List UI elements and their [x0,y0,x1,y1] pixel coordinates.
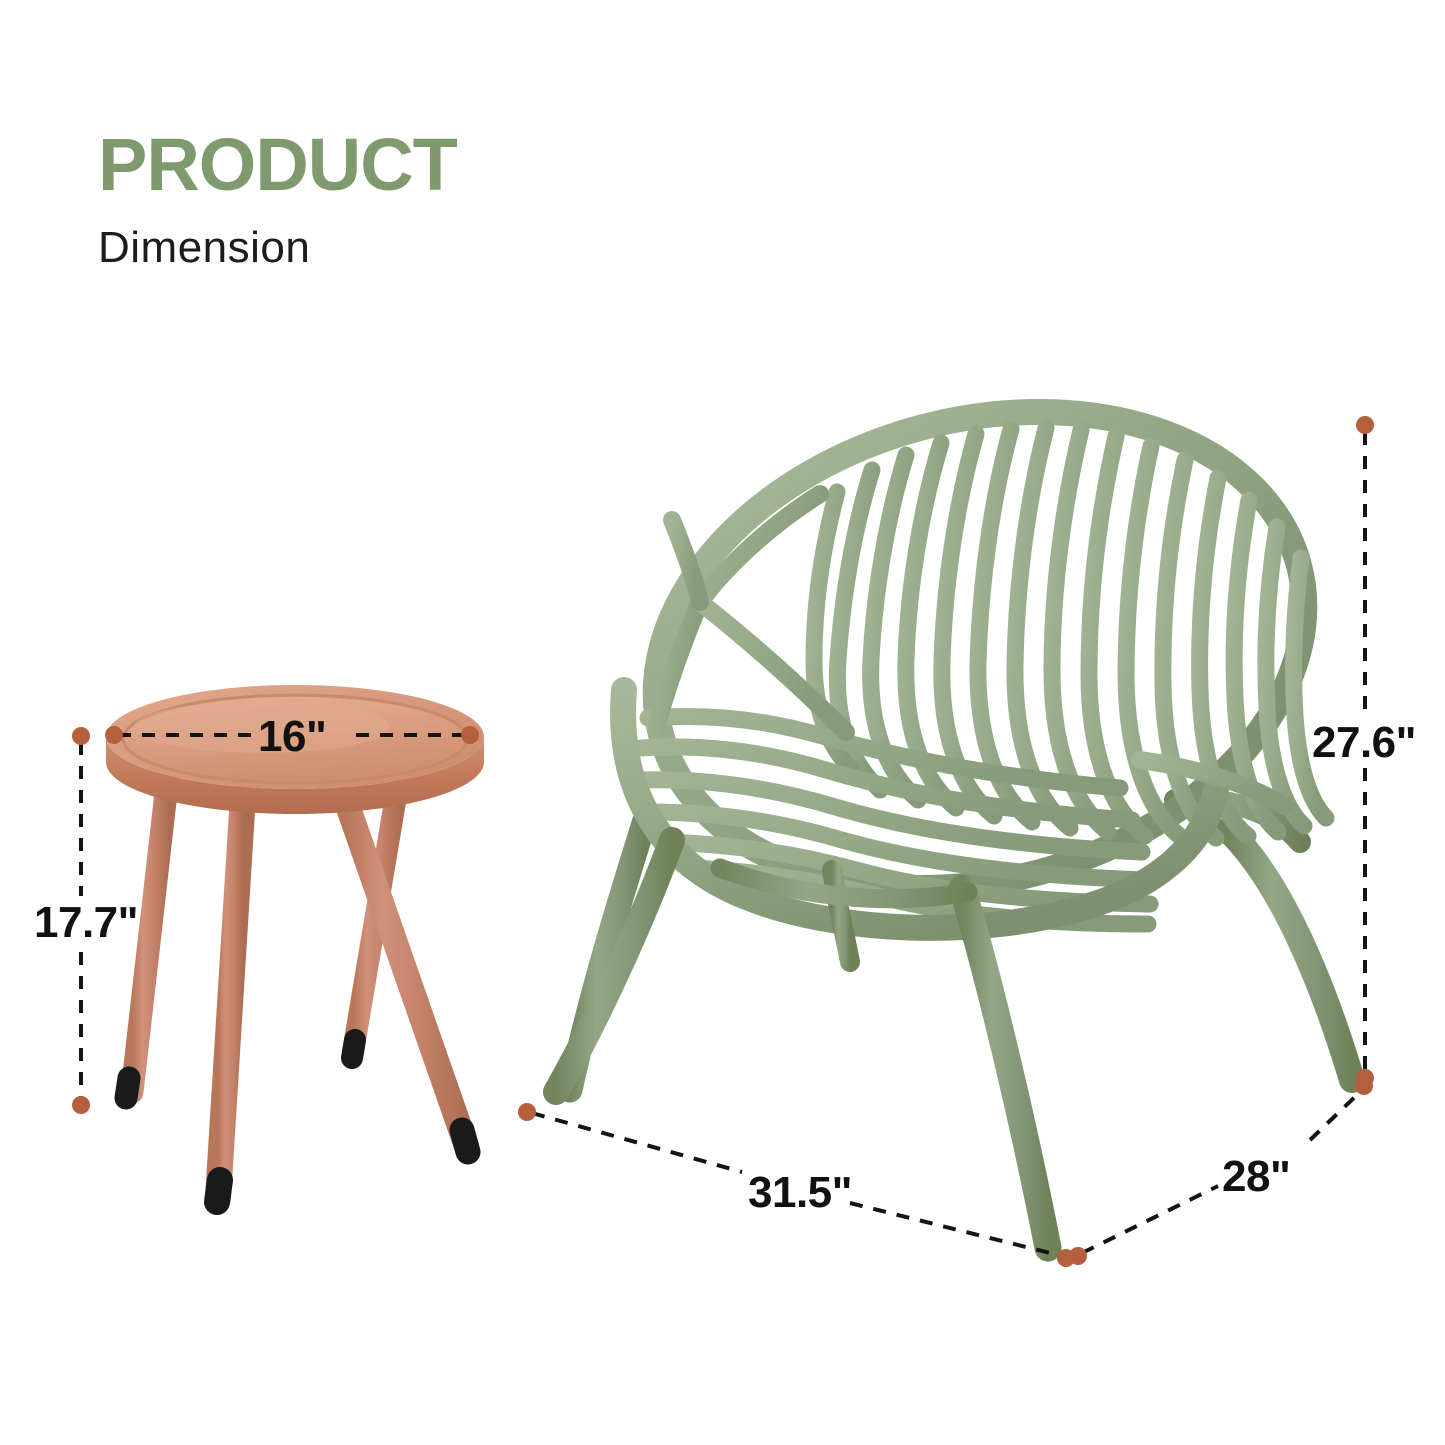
dimension-dot [72,727,90,745]
dimension-dot [518,1103,536,1121]
dimension-label-chair-depth: 28" [1222,1152,1290,1202]
dimension-label-table-width: 16" [258,712,326,762]
dimension-dot [1356,416,1374,434]
dimension-dot [1069,1247,1087,1265]
dimension-annotations [0,0,1445,1445]
dimension-label-chair-height: 27.6" [1312,718,1416,768]
dimension-dot [461,726,479,744]
dimension-label-chair-width: 31.5" [748,1168,852,1218]
dimension-dot [105,726,123,744]
infographic-canvas: PRODUCT Dimension [0,0,1445,1445]
dimension-dot [72,1096,90,1114]
dimension-dot [1355,1077,1373,1095]
dimension-chair-depth [1069,1077,1373,1265]
dimension-label-table-height: 17.7" [34,898,138,948]
